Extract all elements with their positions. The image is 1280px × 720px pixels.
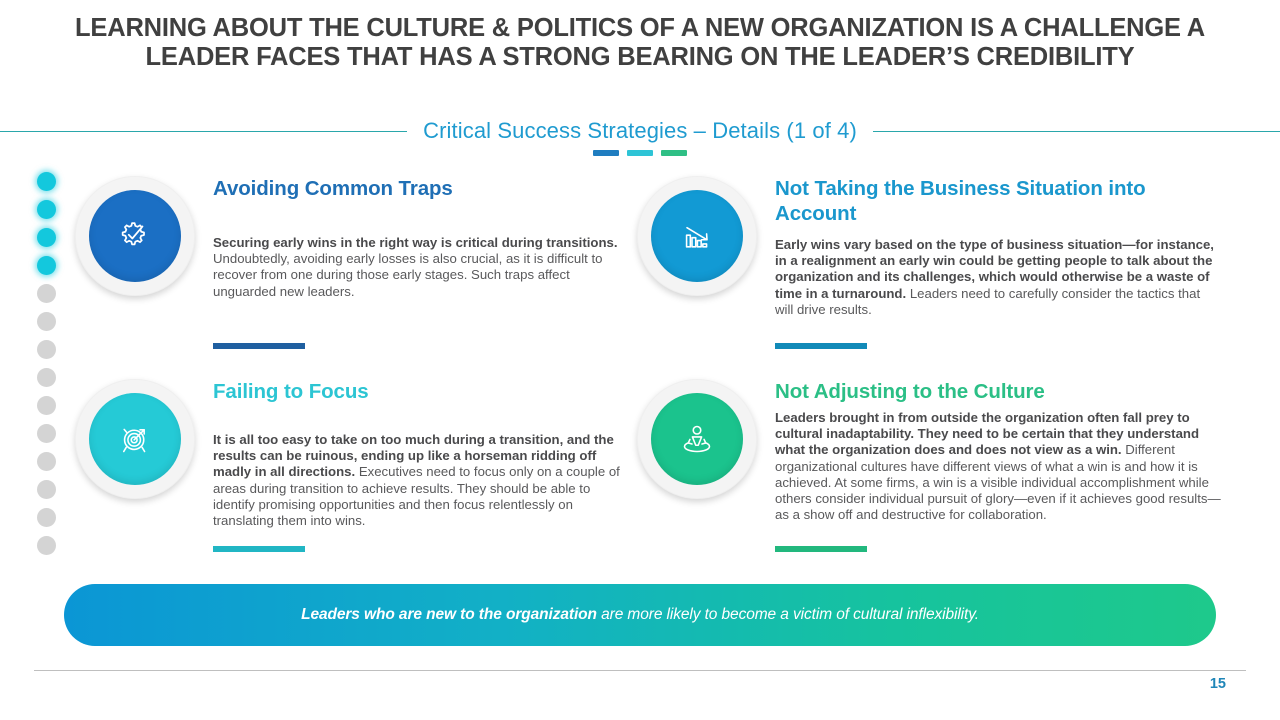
icon-circle	[651, 393, 743, 485]
card-body: Failing to Focus It is all too easy to t…	[213, 379, 623, 529]
rail-dot[interactable]	[37, 536, 56, 555]
rail-dot[interactable]	[37, 284, 56, 303]
key-takeaway-banner: Leaders who are new to the organization …	[64, 584, 1216, 646]
banner-text: Leaders who are new to the organization …	[301, 606, 979, 624]
progress-dot-rail[interactable]	[37, 172, 56, 555]
banner-strong-text: Leaders who are new to the organization	[301, 606, 597, 623]
rail-dot[interactable]	[37, 256, 56, 275]
subtitle-row: Critical Success Strategies – Details (1…	[0, 114, 1280, 148]
rail-dot[interactable]	[37, 424, 56, 443]
rail-dot[interactable]	[37, 312, 56, 331]
rail-dot[interactable]	[37, 340, 56, 359]
icon-circle	[89, 190, 181, 282]
rail-dot[interactable]	[37, 200, 56, 219]
target-arrow-icon	[115, 419, 155, 459]
rail-dot[interactable]	[37, 172, 56, 191]
card-body: Avoiding Common Traps Securing early win…	[213, 176, 623, 300]
rail-dot[interactable]	[37, 508, 56, 527]
header-rule-left	[0, 131, 407, 132]
person-rotate-icon	[677, 419, 717, 459]
icon-badge	[75, 176, 195, 296]
icon-badge	[637, 379, 757, 499]
icon-badge	[75, 379, 195, 499]
card-text: Securing early wins in the right way is …	[213, 235, 623, 300]
footer-divider	[34, 670, 1246, 671]
icon-circle	[651, 190, 743, 282]
rail-dot[interactable]	[37, 480, 56, 499]
accent-dash-group	[0, 150, 1280, 156]
card-heading: Not Taking the Business Situation into A…	[775, 176, 1215, 226]
page-number: 15	[1210, 676, 1226, 692]
icon-badge	[637, 176, 757, 296]
gear-check-icon	[115, 216, 155, 256]
card-lead: Securing early wins in the right way is …	[213, 235, 618, 250]
dash-cyan	[627, 150, 653, 156]
icon-circle	[89, 393, 181, 485]
card-underline	[213, 343, 305, 349]
card-body: Not Taking the Business Situation into A…	[775, 176, 1215, 318]
card-heading: Avoiding Common Traps	[213, 176, 623, 201]
rail-dot[interactable]	[37, 228, 56, 247]
page-title: LEARNING ABOUT THE CULTURE & POLITICS OF…	[50, 14, 1230, 72]
header-rule-right	[873, 131, 1280, 132]
card-underline	[775, 343, 867, 349]
card-body: Not Adjusting to the Culture Leaders bro…	[775, 379, 1225, 523]
card-underline	[213, 546, 305, 552]
dash-blue	[593, 150, 619, 156]
card-underline	[775, 546, 867, 552]
declining-bar-chart-icon	[677, 216, 717, 256]
subtitle-text: Critical Success Strategies – Details (1…	[423, 118, 857, 144]
card-heading: Not Adjusting to the Culture	[775, 379, 1225, 404]
card-detail: Undoubtedly, avoiding early losses is al…	[213, 251, 602, 298]
rail-dot[interactable]	[37, 452, 56, 471]
rail-dot[interactable]	[37, 368, 56, 387]
card-text: It is all too easy to take on too much d…	[213, 432, 623, 529]
rail-dot[interactable]	[37, 396, 56, 415]
card-heading: Failing to Focus	[213, 379, 623, 404]
card-text: Leaders brought in from outside the orga…	[775, 410, 1225, 523]
dash-green	[661, 150, 687, 156]
banner-rest-text: are more likely to become a victim of cu…	[597, 606, 979, 623]
card-text: Early wins vary based on the type of bus…	[775, 237, 1215, 318]
